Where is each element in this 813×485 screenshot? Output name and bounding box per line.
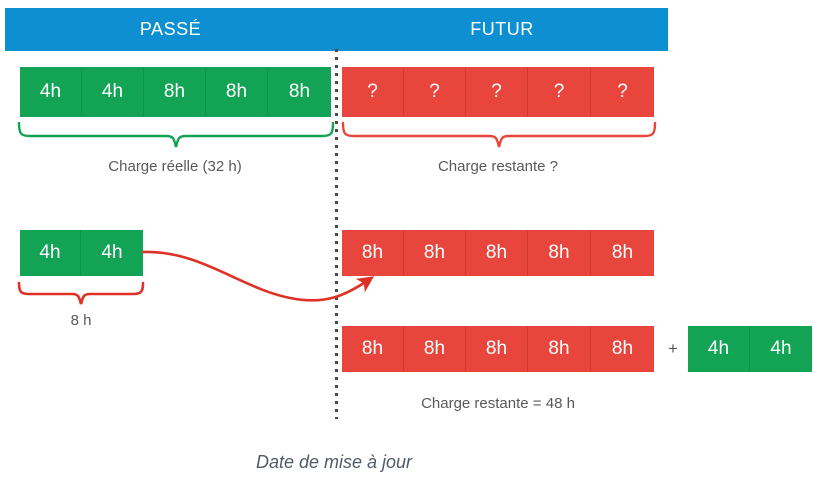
caption-eight-hours: 8 h	[18, 312, 144, 329]
workload-cell: ?	[404, 67, 466, 117]
plus-operator: +	[660, 326, 686, 372]
update-date-label: Date de mise à jour	[0, 452, 668, 473]
update-date-divider-line	[335, 49, 338, 419]
workload-cell: 8h	[528, 230, 591, 276]
workload-cell: 4h	[81, 230, 143, 276]
timeline-period-bar: PASSÉ FUTUR	[5, 8, 668, 51]
workload-cell: 4h	[688, 326, 750, 372]
row-future-estimated-workload: 8h 8h 8h 8h 8h	[342, 230, 654, 276]
row-extra-carried-hours: 4h 4h	[688, 326, 812, 372]
caption-future-remaining-workload: Charge restante ?	[342, 158, 654, 175]
brace-future-remaining	[340, 120, 658, 150]
workload-cell: 8h	[404, 326, 466, 372]
workload-cell: 8h	[404, 230, 466, 276]
workload-cell: ?	[466, 67, 528, 117]
period-label-past: PASSÉ	[5, 8, 336, 51]
workload-cell: 8h	[144, 67, 206, 117]
workload-cell: 8h	[206, 67, 268, 117]
workload-cell: 8h	[466, 326, 528, 372]
caption-remaining-total: Charge restante = 48 h	[342, 395, 654, 412]
workload-cell: 4h	[750, 326, 812, 372]
row-future-unknown-workload: ? ? ? ? ?	[342, 67, 654, 117]
workload-cell: ?	[528, 67, 591, 117]
row-reassigned-hours: 4h 4h	[20, 230, 143, 276]
row-past-actual-workload: 4h 4h 8h 8h 8h	[20, 67, 331, 117]
workload-cell: 4h	[82, 67, 144, 117]
workload-cell: 8h	[268, 67, 331, 117]
brace-past-actual	[16, 120, 336, 150]
workload-cell: 8h	[342, 230, 404, 276]
workload-cell: 8h	[466, 230, 528, 276]
workload-cell: 4h	[20, 67, 82, 117]
caption-past-actual-workload: Charge réelle (32 h)	[18, 158, 332, 175]
period-label-future: FUTUR	[336, 8, 668, 51]
brace-eight-hours	[16, 280, 148, 308]
workload-cell: 8h	[528, 326, 591, 372]
workload-cell: ?	[591, 67, 654, 117]
workload-cell: 8h	[591, 230, 654, 276]
workload-cell: 8h	[591, 326, 654, 372]
workload-cell: ?	[342, 67, 404, 117]
workload-cell: 8h	[342, 326, 404, 372]
row-future-total-workload: 8h 8h 8h 8h 8h	[342, 326, 654, 372]
workload-cell: 4h	[20, 230, 81, 276]
